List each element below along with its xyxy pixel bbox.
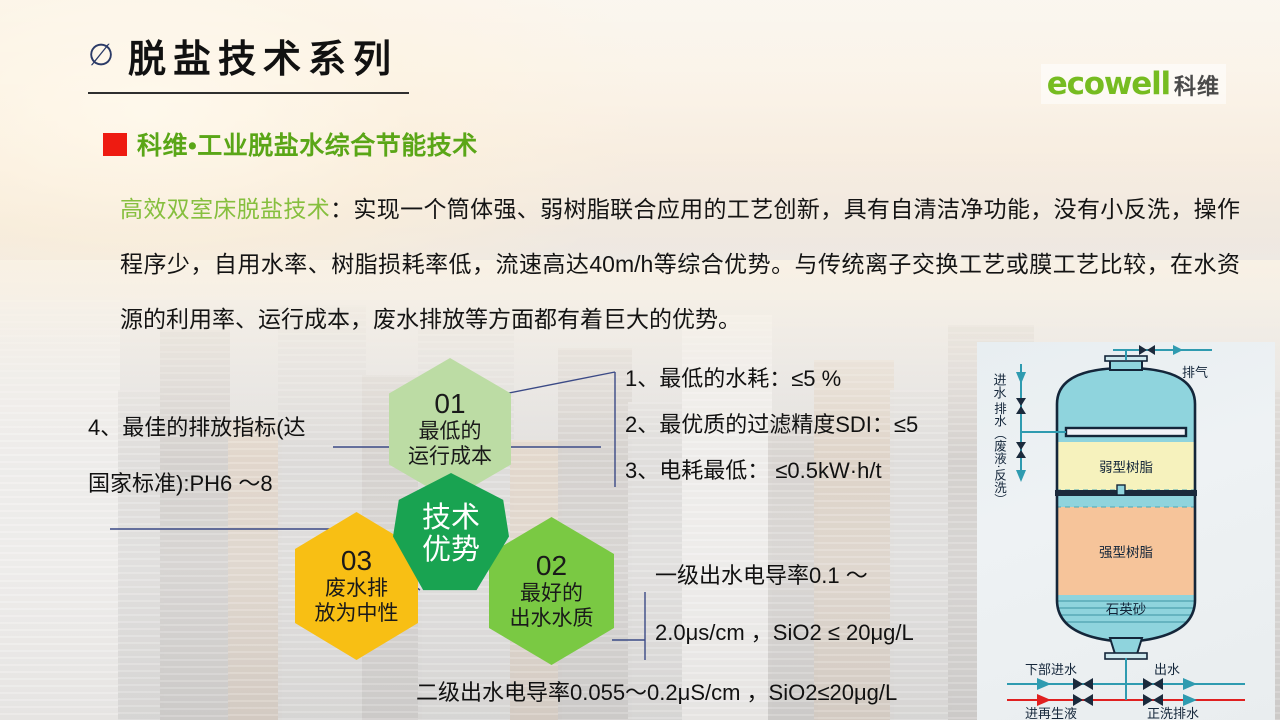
label-inlet: 进水 — [992, 373, 1007, 399]
note-right-item-1: 1、最低的水耗：≤5 % — [625, 356, 918, 402]
hexagon-02-line1: 最好的 — [520, 581, 583, 606]
hexagon-01-line2: 运行成本 — [408, 444, 492, 469]
middle-distributor — [1055, 490, 1197, 496]
hexagon-03-number: 03 — [341, 546, 372, 576]
hexagon-03-line2: 放为中性 — [315, 601, 399, 626]
center-line1: 技术 — [422, 502, 480, 534]
note-left: 4、最佳的排放指标(达 国家标准):PH6 ～8 — [88, 400, 338, 512]
note-right-list: 1、最低的水耗：≤5 % 2、最优质的过滤精度SDI：≤5 3、电耗最低： ≤0… — [625, 356, 918, 494]
upper-distributor — [1066, 428, 1186, 436]
center-line2: 优势 — [422, 534, 480, 566]
label-strong-resin: 强型树脂 — [1099, 545, 1153, 560]
label-vent: 排气 — [1182, 365, 1208, 380]
note-mid-right-line2: 2.0μs/cm ，SiO2 ≤ 20μg/L — [655, 604, 914, 661]
vessel-diagram-svg: 排气 进水 排水（废液·反洗） 弱型树脂 强型树脂 石英砂 下部进水 出水 进再… — [977, 342, 1275, 720]
hexagon-01-number: 01 — [434, 389, 465, 419]
note-mid-right: 一级出水电导率0.1 ～ 2.0μs/cm ，SiO2 ≤ 20μg/L — [655, 547, 914, 661]
hexagon-01-line1: 最低的 — [419, 419, 482, 444]
hexagon-02-line2: 出水水质 — [510, 606, 594, 631]
note-left-line2: 国家标准):PH6 ～8 — [88, 456, 338, 512]
label-regen-inlet: 进再生液 — [1025, 706, 1077, 720]
note-right-item-2: 2、最优质的过滤精度SDI：≤5 — [625, 402, 918, 448]
note-left-line1: 4、最佳的排放指标(达 — [88, 400, 338, 456]
note-right-item-3: 3、电耗最低： ≤0.5kW·h/t — [625, 448, 918, 494]
note-mid-right-line1: 一级出水电导率0.1 ～ — [655, 547, 914, 604]
hexagon-02-number: 02 — [536, 551, 567, 581]
hexagon-03-line1: 废水排 — [325, 576, 388, 601]
label-drain: 排水（废液·反洗） — [992, 402, 1006, 506]
note-bottom: 二级出水电导率0.055～0.2μS/cm ，SiO2≤20μg/L — [416, 668, 897, 718]
label-rinse-drain: 正洗排水 — [1147, 706, 1199, 720]
label-outlet: 出水 — [1154, 662, 1180, 677]
label-bottom-inlet: 下部进水 — [1025, 662, 1077, 677]
vessel-diagram: 排气 进水 排水（废液·反洗） 弱型树脂 强型树脂 石英砂 下部进水 出水 进再… — [977, 342, 1275, 720]
label-quartz-sand: 石英砂 — [1106, 601, 1147, 617]
label-weak-resin: 弱型树脂 — [1099, 460, 1153, 475]
